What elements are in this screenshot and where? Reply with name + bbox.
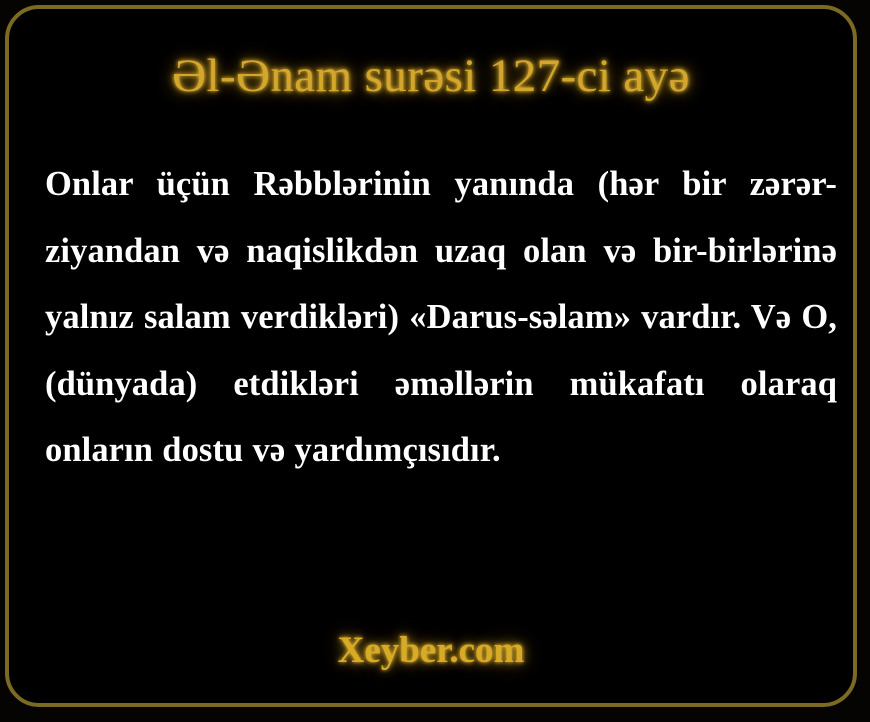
page-title: Əl-Ənam surəsi 127-ci ayə — [9, 49, 853, 103]
verse-card: Əl-Ənam surəsi 127-ci ayə Onlar üçün Rəb… — [5, 5, 857, 707]
verse-body-text: Onlar üçün Rəbblərinin yanında (hər bir … — [45, 151, 837, 484]
site-watermark: Xeyber.com — [9, 629, 853, 672]
